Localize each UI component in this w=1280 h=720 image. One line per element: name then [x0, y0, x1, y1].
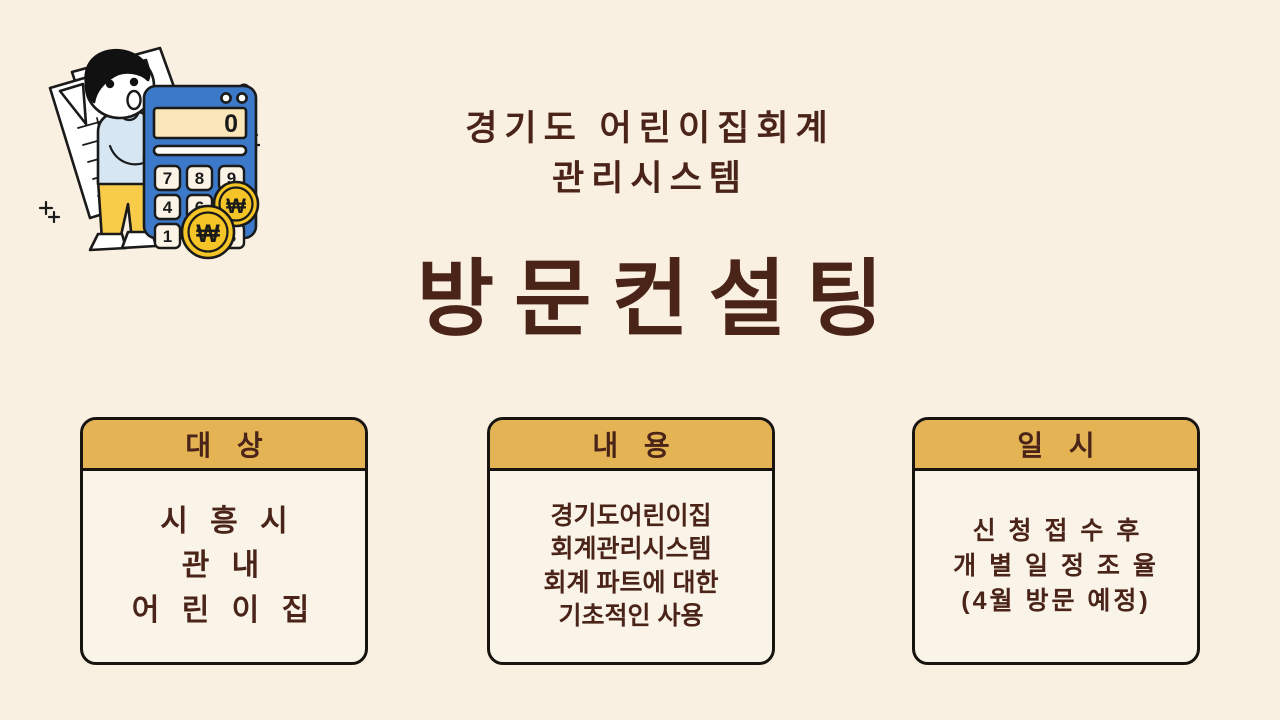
svg-text:7: 7	[163, 169, 172, 188]
info-card-body-target: 시 흥 시 관 내 어 린 이 집	[83, 471, 365, 662]
info-card-body-schedule: 신 청 접 수 후 개 별 일 정 조 율 (4월 방문 예정)	[915, 471, 1197, 662]
info-card-contents: 내 용 경기도어린이집 회계관리시스템 회계 파트에 대한 기초적인 사용	[487, 417, 775, 665]
svg-text:₩: ₩	[226, 195, 246, 218]
accountant-with-calculator-illustration: 0 7 8	[28, 28, 260, 260]
calculator-display-value: 0	[224, 110, 238, 138]
info-card-group: 대 상 시 흥 시 관 내 어 린 이 집 내 용 경기도어린이집 회계관리시스…	[0, 417, 1280, 667]
info-card-header-target: 대 상	[83, 420, 365, 471]
won-coin-icon: ₩	[182, 206, 234, 258]
info-card-header-contents: 내 용	[490, 420, 772, 471]
poster-root: 0 7 8	[0, 0, 1280, 720]
info-card-schedule: 일 시 신 청 접 수 후 개 별 일 정 조 율 (4월 방문 예정)	[912, 417, 1200, 665]
svg-text:1: 1	[163, 227, 172, 246]
svg-text:₩: ₩	[196, 220, 220, 248]
info-card-body-contents: 경기도어린이집 회계관리시스템 회계 파트에 대한 기초적인 사용	[490, 471, 772, 662]
info-card-target: 대 상 시 흥 시 관 내 어 린 이 집	[80, 417, 368, 665]
svg-text:8: 8	[195, 169, 204, 188]
page-title: 방문컨설팅	[300, 252, 1000, 346]
svg-text:4: 4	[163, 198, 173, 217]
system-subtitle: 경기도 어린이집회계 관리시스템	[300, 104, 1000, 203]
info-card-header-schedule: 일 시	[915, 420, 1197, 471]
